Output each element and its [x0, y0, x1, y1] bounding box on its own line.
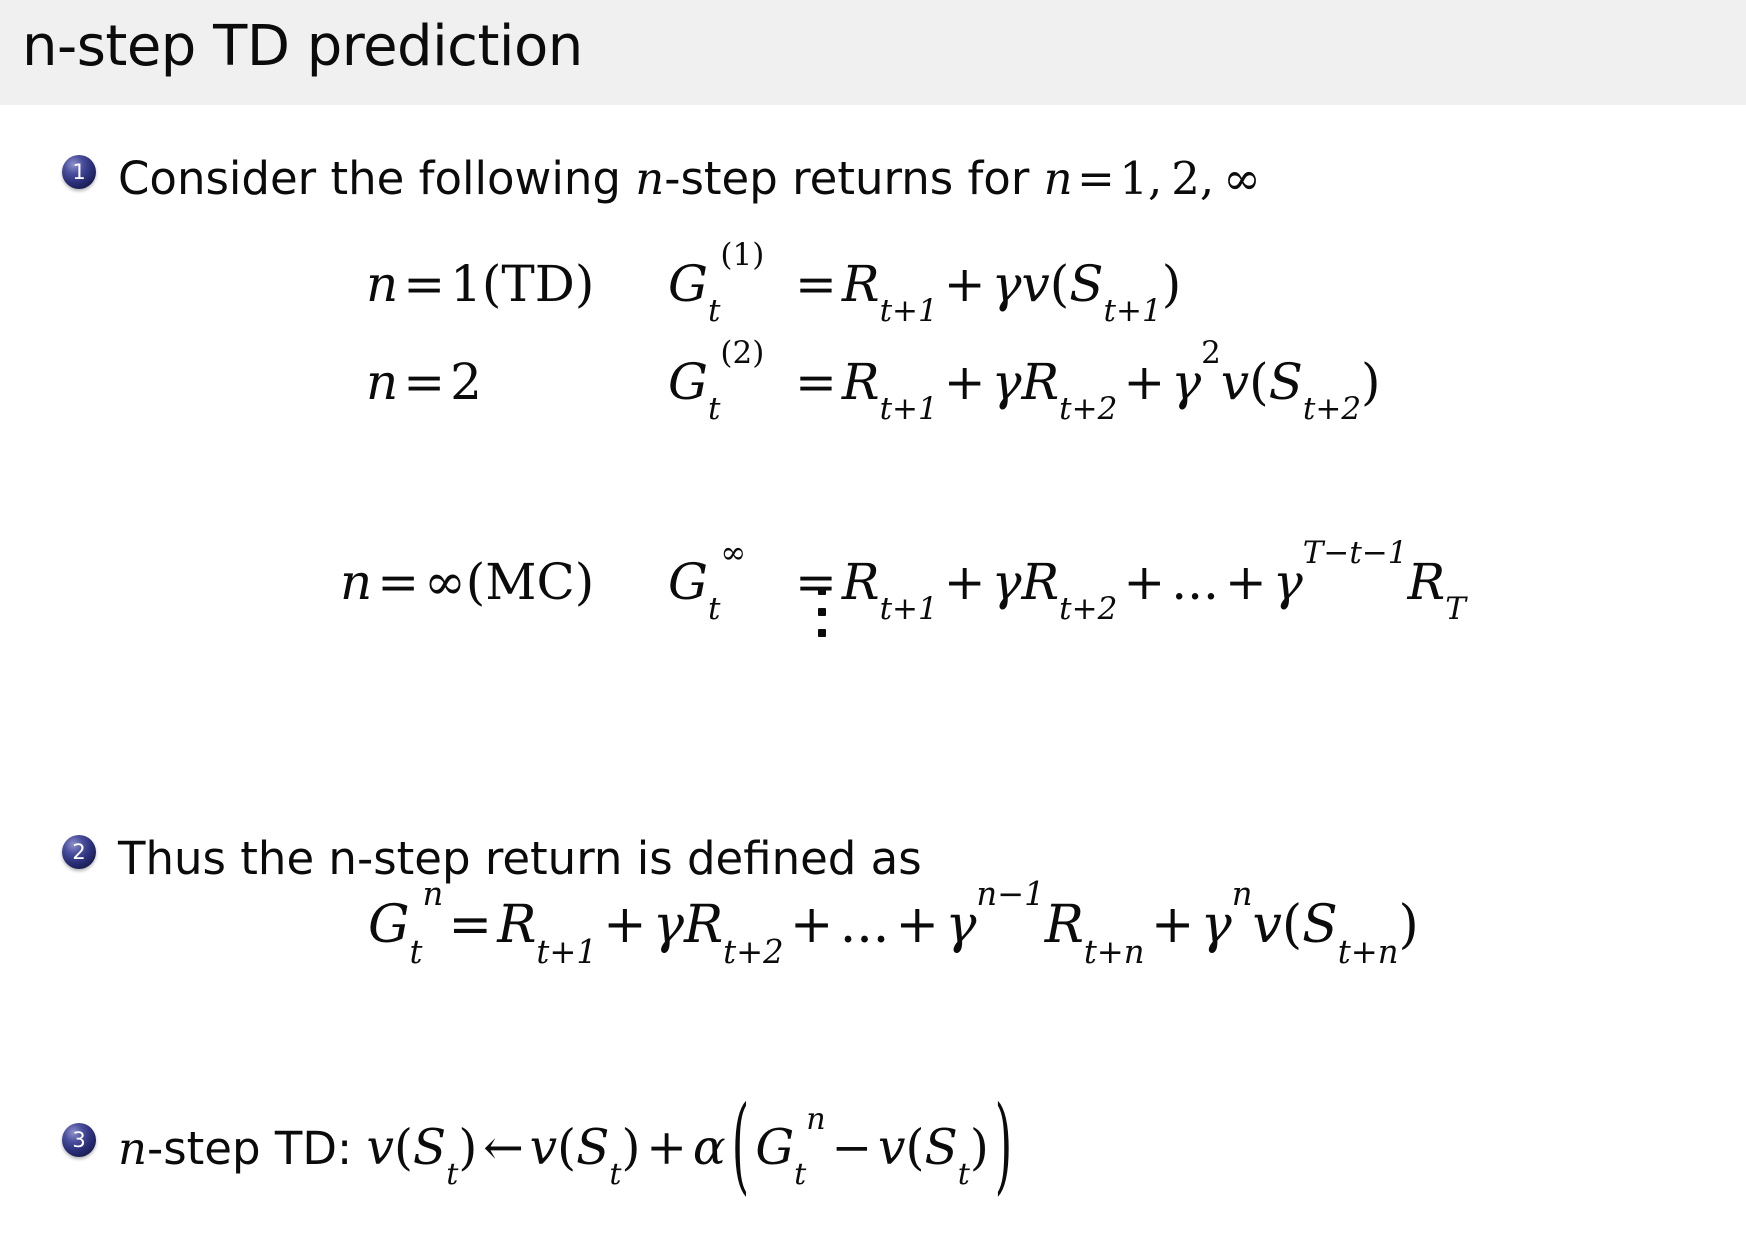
vdot-3	[818, 629, 826, 637]
slide-header: n-step TD prediction	[0, 0, 1746, 105]
page-title: n-step TD prediction	[22, 14, 583, 79]
eq-row-3-condition: n=∞(MC)	[340, 553, 594, 611]
big-left-paren: (	[732, 1092, 749, 1203]
bullet-marker-2: 2	[62, 835, 96, 869]
nstep-return-expression: Gtn=Rt+1+γRt+2+...+γn−1Rt+n+γnv(St+n)	[368, 895, 1419, 955]
eq-row-1-condition: n=1(TD)	[366, 255, 594, 313]
list-item-3-text: n-step TD: v(St)←v(St)+α(Gtn−v(St))	[118, 1123, 1018, 1175]
item3-italic-n: n	[118, 1122, 147, 1175]
bullet-marker-1: 1	[62, 155, 96, 189]
list-item-1: 1 Consider the following n-step returns …	[62, 155, 1261, 203]
list-item-2: 2 Thus the n-step return is defined as	[62, 835, 922, 883]
list-item-1-text: Consider the following n-step returns fo…	[118, 155, 1261, 203]
big-right-paren: )	[995, 1092, 1012, 1203]
nstep-td-update-equation: v(St)←v(St)+α(Gtn−v(St))	[366, 1120, 1018, 1176]
eq-row-3-rhs: =Rt+1+γRt+2+...+γT−t−1RT	[790, 553, 1466, 611]
list-item-3: 3 n-step TD: v(St)←v(St)+α(Gtn−v(St))	[62, 1123, 1018, 1175]
eq-row-2-condition: n=2	[366, 353, 482, 411]
list-item-2-text: Thus the n-step return is defined as	[118, 835, 922, 883]
item3-label: -step TD:	[147, 1122, 352, 1175]
item1-text-after: -step returns for	[664, 152, 1043, 205]
bullet-marker-3: 3	[62, 1123, 96, 1157]
slide-body: 1 Consider the following n-step returns …	[0, 105, 1746, 1256]
eq-row-3-symbol: Gt∞	[668, 553, 746, 611]
eq-row-2-rhs: =Rt+1+γRt+2+γ2v(St+2)	[790, 353, 1381, 411]
eq-row-1-rhs: =Rt+1+γv(St+1)	[790, 255, 1181, 313]
eq-row-2-symbol: Gt(2)	[668, 353, 764, 411]
nstep-return-equation: Gtn=Rt+1+γRt+2+...+γn−1Rt+n+γnv(St+n)	[0, 895, 1746, 955]
item1-italic-n: n	[635, 152, 664, 205]
item1-inline-equation: n=1, 2, ∞	[1044, 152, 1261, 205]
item1-text-before: Consider the following	[118, 152, 635, 205]
eq-row-1-symbol: Gt(1)	[668, 255, 764, 313]
